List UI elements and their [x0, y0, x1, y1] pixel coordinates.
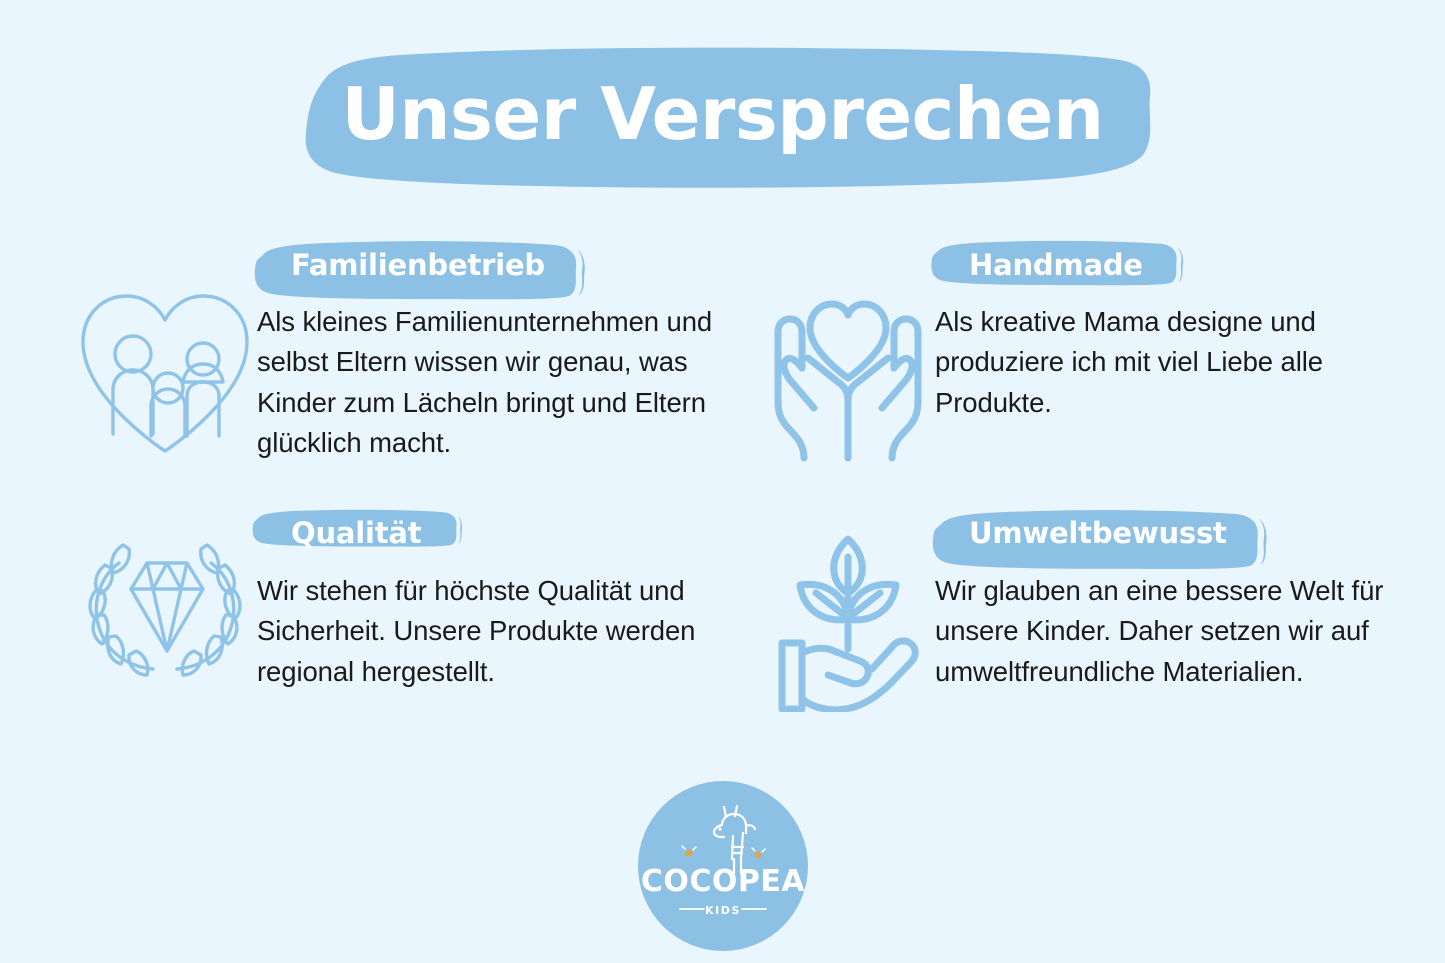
diamond-laurel-icon — [72, 507, 257, 697]
hand-plant-icon — [760, 507, 935, 697]
features-grid: Familienbetrieb Als kleines Familienunte… — [0, 238, 1445, 697]
feature-label-text: Familienbetrieb — [291, 251, 545, 280]
infographic-page: Unser Versprechen — [0, 0, 1445, 963]
hands-holding-heart-icon — [760, 238, 935, 428]
page-title: Unser Versprechen — [341, 78, 1103, 156]
feature-copy-qualitaet: Qualität Wir stehen für höchste Qualität… — [257, 507, 722, 692]
feature-label-text: Umweltbewusst — [969, 519, 1227, 548]
page-title-banner: Unser Versprechen — [0, 42, 1445, 192]
brand-logo: COCOPEA KIDS — [638, 781, 808, 951]
logo-subtext: KIDS — [705, 904, 741, 917]
title-brush-banner: Unser Versprechen — [288, 44, 1158, 190]
logo-wordmark: COCOPEA — [641, 864, 806, 899]
feature-label-pill-handmade: Handmade — [939, 240, 1173, 290]
feature-card-qualitaet: Qualität Wir stehen für höchste Qualität… — [0, 507, 722, 697]
features-row-1: Familienbetrieb Als kleines Familienunte… — [0, 238, 1445, 464]
feature-label-pill-umweltbewusst: Umweltbewusst — [939, 509, 1257, 559]
feature-label-text: Qualität — [291, 519, 421, 548]
feature-description: Wir glauben an eine bessere Welt für uns… — [935, 571, 1390, 692]
feature-card-umweltbewusst: Umweltbewusst Wir glauben an eine besser… — [722, 507, 1445, 697]
hands-holding-heart-icon-svg — [768, 290, 928, 462]
feature-copy-familienbetrieb: Familienbetrieb Als kleines Familienunte… — [257, 238, 722, 464]
family-heart-icon-svg — [75, 286, 255, 458]
diamond-laurel-icon-svg — [75, 527, 255, 692]
hand-plant-icon-svg — [768, 527, 928, 712]
feature-card-familienbetrieb: Familienbetrieb Als kleines Familienunte… — [0, 238, 722, 464]
butterfly-accent-icon — [752, 848, 765, 859]
family-heart-icon — [72, 238, 257, 428]
feature-label-text: Handmade — [969, 251, 1143, 280]
giraffe-icon — [714, 806, 755, 873]
feature-label-pill-qualitaet: Qualität — [261, 509, 451, 559]
features-row-2: Qualität Wir stehen für höchste Qualität… — [0, 507, 1445, 697]
feature-copy-handmade: Handmade Als kreative Mama designe und p… — [935, 238, 1445, 423]
feature-description: Als kleines Familienunternehmen und selb… — [257, 302, 722, 464]
feature-card-handmade: Handmade Als kreative Mama designe und p… — [722, 238, 1445, 464]
feature-description: Als kreative Mama designe und produziere… — [935, 302, 1390, 423]
feature-description: Wir stehen für höchste Qualität und Sich… — [257, 571, 722, 692]
cocopea-kids-logo-svg: COCOPEA KIDS — [638, 781, 808, 951]
feature-label-pill-familienbetrieb: Familienbetrieb — [261, 240, 575, 290]
bee-accent-icon — [682, 846, 696, 857]
feature-copy-umweltbewusst: Umweltbewusst Wir glauben an eine besser… — [935, 507, 1445, 692]
